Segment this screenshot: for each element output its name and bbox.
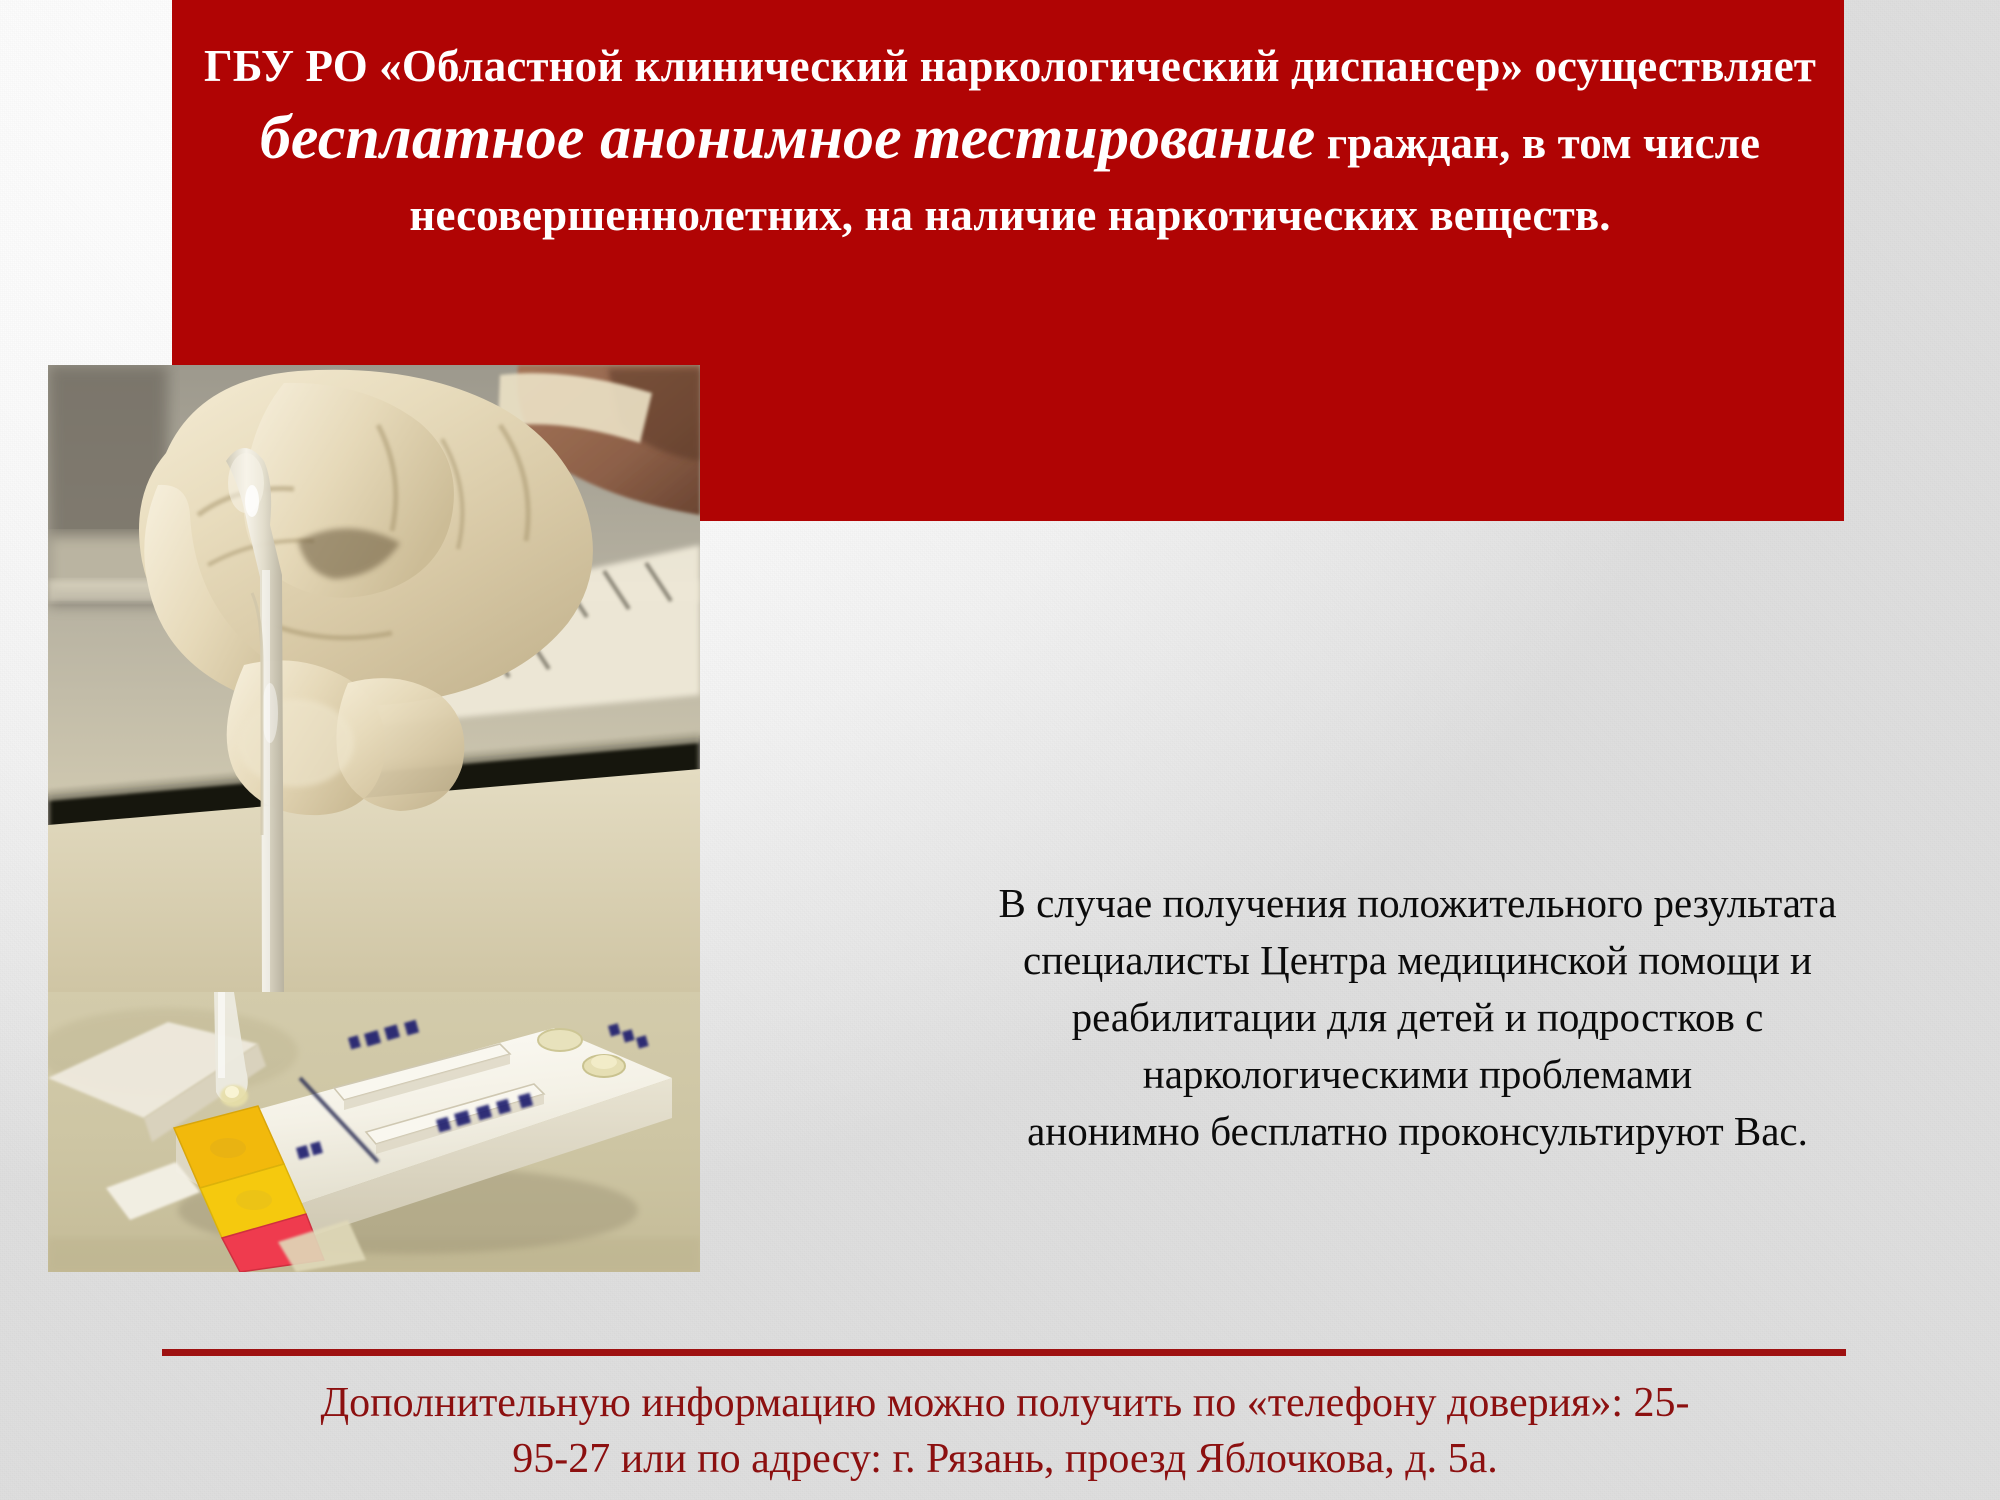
photo-gloved-hand-pipette	[48, 365, 700, 992]
footer-divider	[162, 1349, 1846, 1356]
body-line-2: специалисты Центра медицинской помощи и	[880, 932, 1955, 989]
body-line-3: реабилитации для детей и подростков с	[880, 989, 1955, 1046]
footer-line-2: 95-27 или по адресу: г. Рязань, проезд Я…	[140, 1431, 1870, 1487]
slide-canvas: ГБУ РО «Областной клинический наркологич…	[0, 0, 2000, 1500]
photo-drug-test-cassette	[48, 992, 700, 1272]
title-line-4: несовершеннолетних, на наличие наркотиче…	[409, 190, 1418, 240]
title-emphasis-testing: тестирование	[913, 104, 1315, 172]
body-paragraph: В случае получения положительного резуль…	[880, 875, 1955, 1160]
footer-contact-info: Дополнительную информацию можно получить…	[140, 1375, 1870, 1487]
title-line-3-suffix: граждан, в том числе	[1315, 118, 1760, 168]
photo-upper-svg	[48, 365, 700, 992]
title-line-5: веществ.	[1429, 190, 1610, 240]
title-line-2-prefix: диспансер» осуществляет	[1291, 41, 1816, 91]
photo-lower-svg	[48, 992, 700, 1272]
title-emphasis-free-anonymous: бесплатное анонимное	[260, 104, 902, 172]
body-line-5: анонимно бесплатно проконсультируют Вас.	[880, 1103, 1955, 1160]
page-title: ГБУ РО «Областной клинический наркологич…	[200, 30, 1820, 251]
body-line-1: В случае получения положительного резуль…	[880, 875, 1955, 932]
body-line-4: наркологическими проблемами	[880, 1046, 1955, 1103]
title-line-1: ГБУ РО «Областной клинический наркологич…	[204, 41, 1280, 91]
footer-line-1: Дополнительную информацию можно получить…	[140, 1375, 1870, 1431]
